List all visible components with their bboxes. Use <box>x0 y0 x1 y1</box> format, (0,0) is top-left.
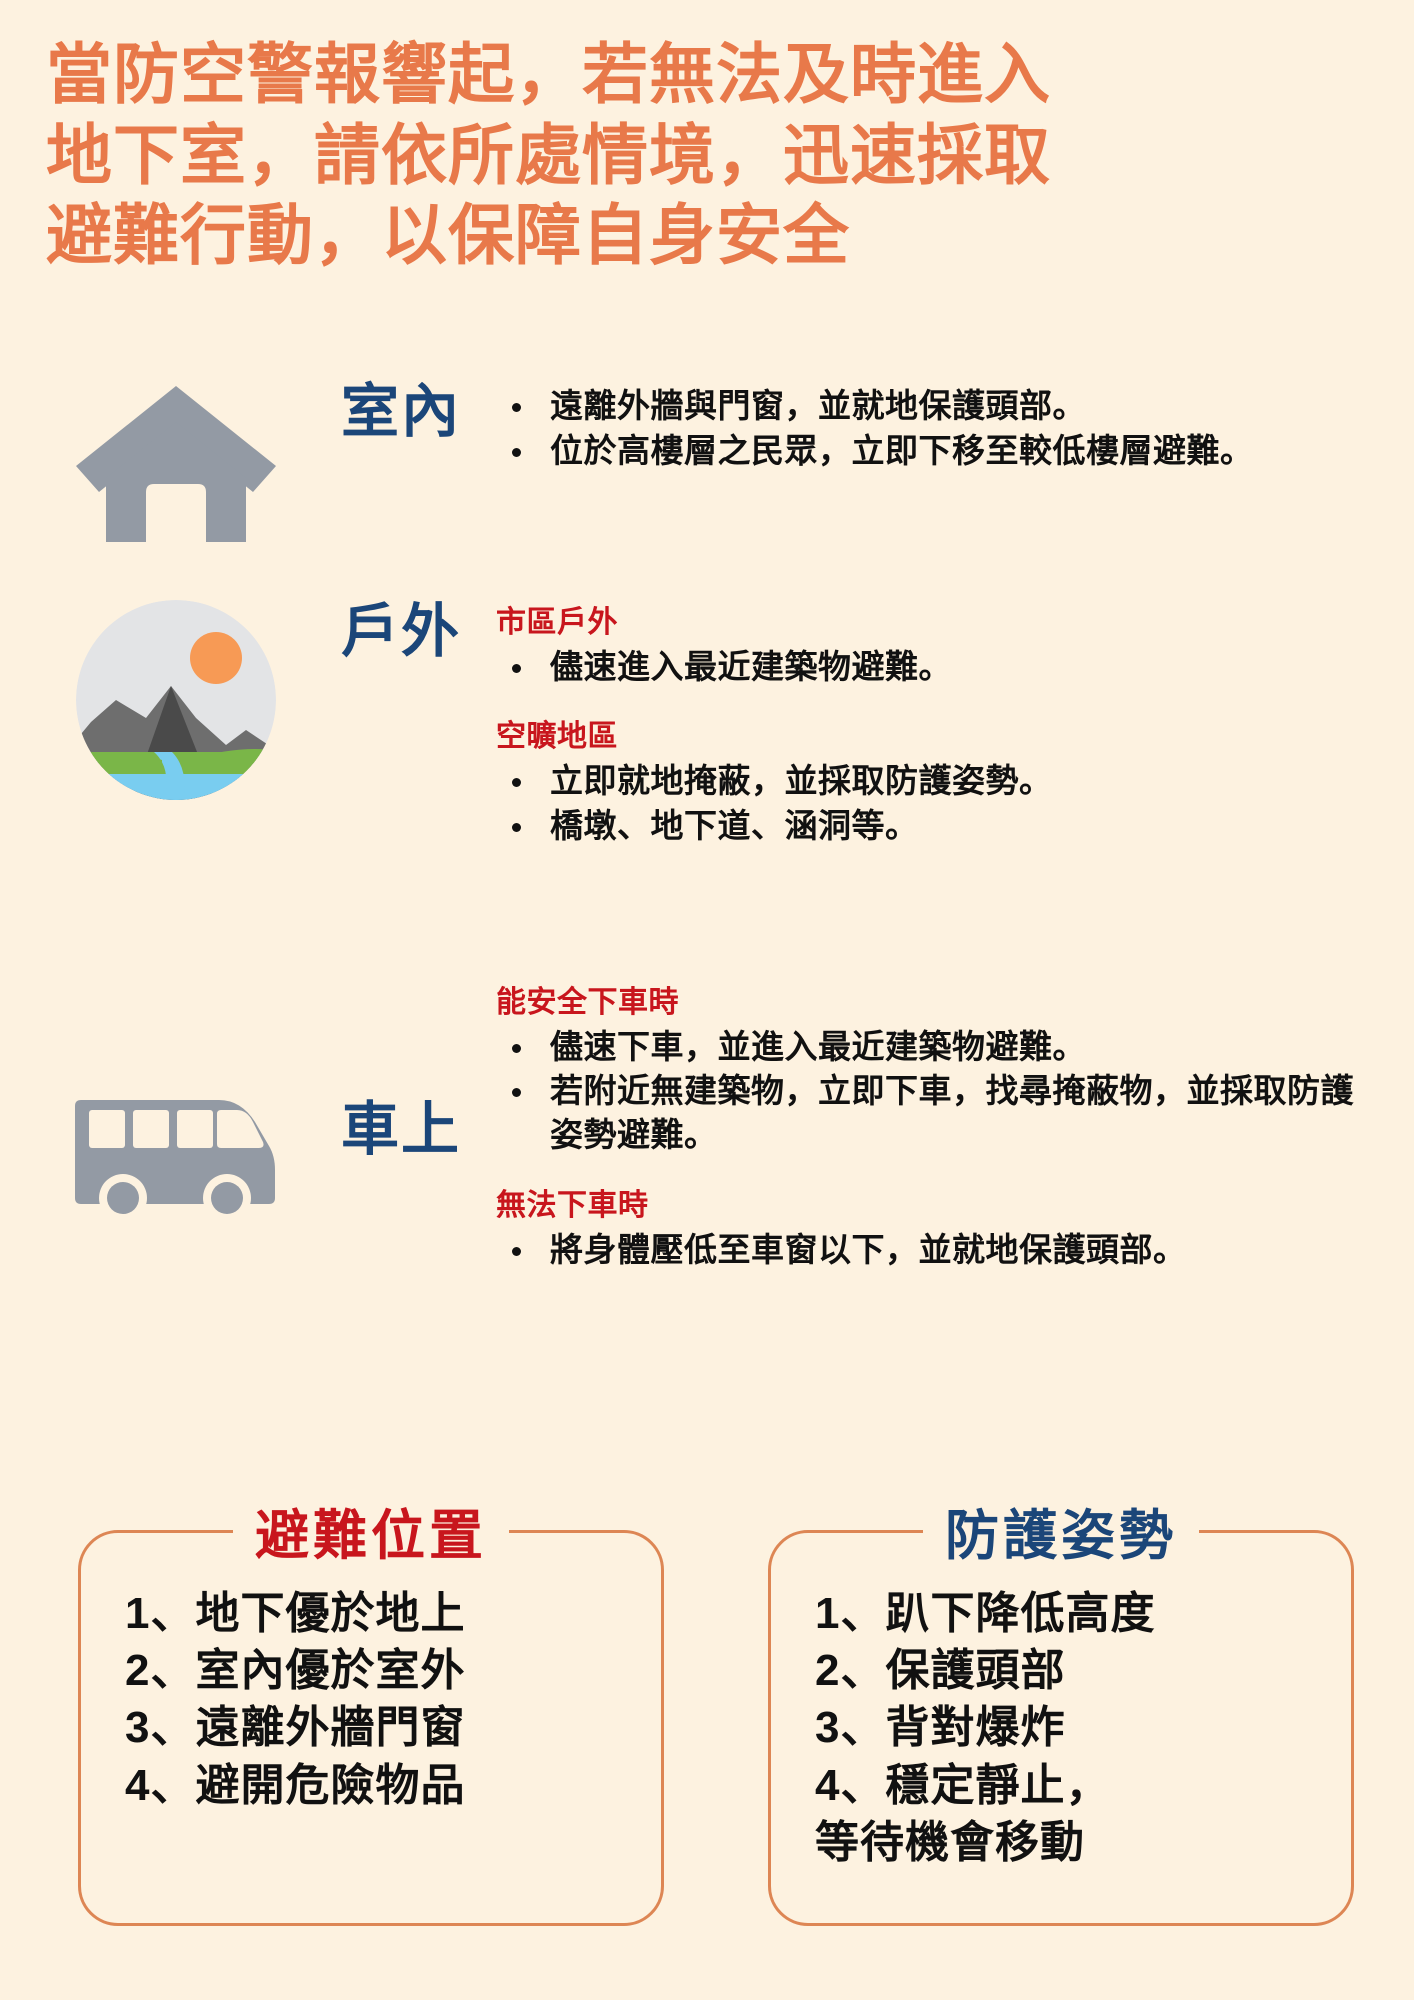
title-line-3: 避難行動，以保障自身安全 <box>46 195 1376 276</box>
outdoor-icon-cell <box>46 600 306 800</box>
outdoor-subhead-open: 空曠地區 <box>496 718 1376 756</box>
air-raid-shelter-infographic: { "colors": { "background": "#fdf2e0", "… <box>0 0 1414 2000</box>
summary-boxes: 避難位置 1、地下優於地上 2、室內優於室外 3、遠離外牆門窗 4、避開危險物品… <box>0 1482 1414 1952</box>
outdoor-open-bullet-list: 立即就地掩蔽，並採取防護姿勢。 橋墩、地下道、涵洞等。 <box>496 759 1376 848</box>
indoor-body: 遠離外牆與門窗，並就地保護頭部。 位於高樓層之民眾，立即下移至較低樓層避難。 <box>496 380 1376 474</box>
vehicle-subhead-cannot-exit: 無法下車時 <box>496 1187 1376 1225</box>
indoor-icon-cell <box>46 380 306 550</box>
outdoor-subhead-urban: 市區戶外 <box>496 604 1376 642</box>
page-title: 當防空警報響起，若無法及時進入 地下室，請依所處情境，迅速採取 避難行動，以保障… <box>46 34 1376 276</box>
list-item: 1、地下優於地上 <box>125 1585 661 1642</box>
box-shelter-location-title: 避難位置 <box>233 1491 509 1570</box>
list-item: 若附近無建築物，立即下車，找尋掩蔽物，並採取防護姿勢避難。 <box>496 1069 1376 1157</box>
landscape-icon <box>76 600 276 800</box>
list-item: 3、背對爆炸 <box>815 1699 1351 1756</box>
vehicle-can-exit-bullet-list: 儘速下車，並進入最近建築物避難。 若附近無建築物，立即下車，找尋掩蔽物，並採取防… <box>496 1025 1376 1158</box>
list-item: 1、趴下降低高度 <box>815 1585 1351 1642</box>
list-item: 立即就地掩蔽，並採取防護姿勢。 <box>496 759 1376 803</box>
vehicle-subhead-can-exit: 能安全下車時 <box>496 984 1376 1022</box>
box-protective-posture-title: 防護姿勢 <box>923 1491 1199 1570</box>
section-outdoor: 戶外 市區戶外 儘速進入最近建築物避難。 空曠地區 立即就地掩蔽，並採取防護姿勢… <box>46 600 1376 849</box>
bus-icon <box>69 1098 284 1228</box>
outdoor-urban-bullet-list: 儘速進入最近建築物避難。 <box>496 645 1376 689</box>
list-item: 2、保護頭部 <box>815 1642 1351 1699</box>
vehicle-body: 能安全下車時 儘速下車，並進入最近建築物避難。 若附近無建築物，立即下車，找尋掩… <box>496 980 1376 1273</box>
list-item: 將身體壓低至車窗以下，並就地保護頭部。 <box>496 1228 1376 1272</box>
outdoor-body: 市區戶外 儘速進入最近建築物避難。 空曠地區 立即就地掩蔽，並採取防護姿勢。 橋… <box>496 600 1376 849</box>
list-item: 3、遠離外牆門窗 <box>125 1699 661 1756</box>
list-item: 4、穩定靜止， 等待機會移動 <box>815 1757 1351 1871</box>
box-shelter-location: 避難位置 1、地下優於地上 2、室內優於室外 3、遠離外牆門窗 4、避開危險物品 <box>78 1530 664 1926</box>
list-item: 2、室內優於室外 <box>125 1642 661 1699</box>
list-item: 儘速下車，並進入最近建築物避難。 <box>496 1025 1376 1069</box>
indoor-bullet-list: 遠離外牆與門窗，並就地保護頭部。 位於高樓層之民眾，立即下移至較低樓層避難。 <box>496 384 1376 473</box>
vehicle-label: 車上 <box>306 980 496 1162</box>
list-item: 4、避開危險物品 <box>125 1757 661 1814</box>
section-indoor: 室內 遠離外牆與門窗，並就地保護頭部。 位於高樓層之民眾，立即下移至較低樓層避難… <box>46 380 1376 550</box>
vehicle-cannot-exit-bullet-list: 將身體壓低至車窗以下，並就地保護頭部。 <box>496 1228 1376 1272</box>
list-item: 遠離外牆與門窗，並就地保護頭部。 <box>496 384 1376 428</box>
title-line-1: 當防空警報響起，若無法及時進入 <box>46 34 1376 115</box>
box-protective-posture-list: 1、趴下降低高度 2、保護頭部 3、背對爆炸 4、穩定靜止， 等待機會移動 <box>771 1533 1351 1871</box>
list-item: 儘速進入最近建築物避難。 <box>496 645 1376 689</box>
vehicle-icon-cell <box>46 980 306 1228</box>
list-item: 橋墩、地下道、涵洞等。 <box>496 804 1376 848</box>
outdoor-label: 戶外 <box>306 600 496 664</box>
box-protective-posture: 防護姿勢 1、趴下降低高度 2、保護頭部 3、背對爆炸 4、穩定靜止， 等待機會… <box>768 1530 1354 1926</box>
list-item: 位於高樓層之民眾，立即下移至較低樓層避難。 <box>496 429 1376 473</box>
box-shelter-location-list: 1、地下優於地上 2、室內優於室外 3、遠離外牆門窗 4、避開危險物品 <box>81 1533 661 1814</box>
house-icon <box>71 380 281 550</box>
indoor-label: 室內 <box>306 380 496 444</box>
title-line-2: 地下室，請依所處情境，迅速採取 <box>46 115 1376 196</box>
section-in-vehicle: 車上 能安全下車時 儘速下車，並進入最近建築物避難。 若附近無建築物，立即下車，… <box>46 980 1376 1273</box>
